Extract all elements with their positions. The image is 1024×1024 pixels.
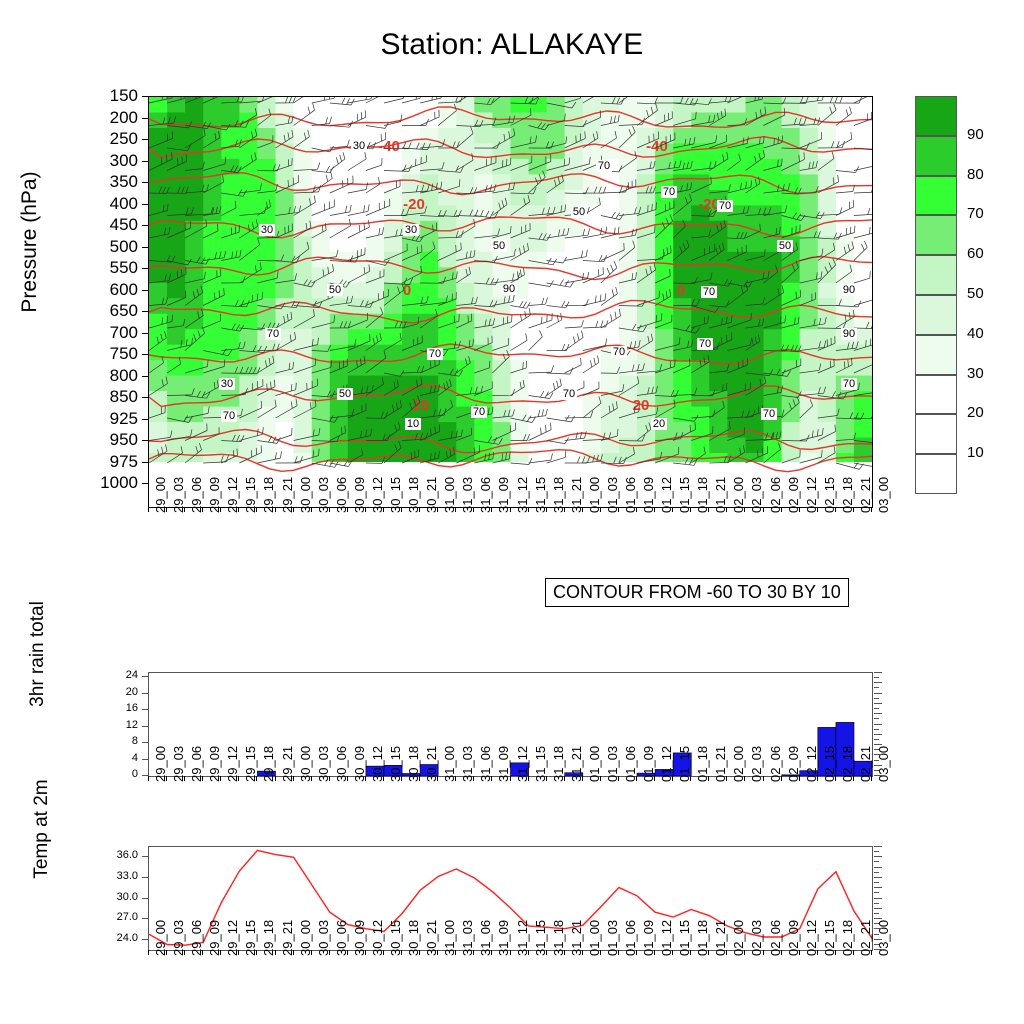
- x-tick-mark: [437, 776, 438, 781]
- x-tick-mark: [491, 776, 492, 781]
- colorbar-label: 90: [967, 126, 984, 143]
- x-tick-mark: [690, 950, 691, 955]
- svg-text:70: 70: [267, 328, 279, 340]
- x-tick-mark: [256, 507, 257, 512]
- x-tick-mark: [275, 950, 276, 955]
- main-y-tick: 450: [70, 215, 138, 235]
- x-tick-mark: [835, 776, 836, 781]
- minor-tick: [874, 934, 879, 935]
- minor-tick: [874, 851, 879, 852]
- x-tick-mark: [744, 950, 745, 955]
- svg-text:70: 70: [719, 200, 731, 212]
- minor-tick: [874, 749, 879, 750]
- x-tick-mark: [184, 950, 185, 955]
- x-tick-mark: [871, 507, 872, 512]
- x-tick-mark: [383, 950, 384, 955]
- x-tick-mark: [763, 776, 764, 781]
- x-tick-mark: [600, 776, 601, 781]
- x-tick-mark: [166, 950, 167, 955]
- x-tick-mark: [419, 950, 420, 955]
- contour-note: CONTOUR FROM -60 TO 30 BY 10: [545, 578, 849, 607]
- x-tick-mark: [618, 507, 619, 512]
- minor-tick: [874, 944, 879, 945]
- x-tick-mark: [817, 507, 818, 512]
- rain-y-tick: 12: [108, 719, 138, 731]
- x-tick-mark: [708, 507, 709, 512]
- minor-tick: [874, 739, 879, 740]
- minor-tick: [874, 898, 882, 899]
- x-tick-mark: [202, 776, 203, 781]
- svg-text:30: 30: [261, 224, 273, 236]
- svg-text:20: 20: [653, 418, 665, 430]
- main-y-tick: 800: [70, 366, 138, 386]
- minor-tick: [874, 698, 879, 699]
- minor-tick: [874, 856, 882, 857]
- x-tick-mark: [708, 950, 709, 955]
- minor-tick: [874, 913, 879, 914]
- minor-tick: [874, 882, 879, 883]
- x-tick-mark: [491, 507, 492, 512]
- x-tick-mark: [835, 950, 836, 955]
- svg-text:70: 70: [663, 186, 675, 198]
- minor-tick: [874, 687, 879, 688]
- minor-tick: [874, 861, 879, 862]
- x-tick-mark: [618, 776, 619, 781]
- x-tick-mark: [510, 776, 511, 781]
- svg-text:50: 50: [329, 284, 341, 296]
- colorbar-label: 20: [967, 404, 984, 421]
- x-tick-mark: [148, 950, 149, 955]
- x-tick-mark: [347, 507, 348, 512]
- x-tick-mark: [528, 776, 529, 781]
- svg-text:10: 10: [407, 418, 419, 430]
- main-y-tick: 925: [70, 409, 138, 429]
- x-tick-mark: [293, 776, 294, 781]
- main-y-tick: 200: [70, 108, 138, 128]
- minor-tick: [874, 765, 882, 766]
- minor-tick: [874, 677, 879, 678]
- svg-text:70: 70: [613, 346, 625, 358]
- x-tick-mark: [329, 950, 330, 955]
- minor-tick: [874, 872, 879, 873]
- x-tick-mark: [781, 950, 782, 955]
- x-tick-mark: [275, 507, 276, 512]
- x-tick-mark: [148, 507, 149, 512]
- x-tick-mark: [672, 776, 673, 781]
- minor-tick: [874, 928, 882, 929]
- x-tick-mark: [202, 507, 203, 512]
- x-tick-label: 03_00: [876, 477, 891, 513]
- svg-text:-20: -20: [403, 196, 425, 213]
- x-tick-mark: [726, 776, 727, 781]
- minor-tick: [874, 734, 882, 735]
- minor-tick: [874, 682, 882, 683]
- main-y-tick: 250: [70, 129, 138, 149]
- svg-text:50: 50: [339, 388, 351, 400]
- x-tick-mark: [365, 507, 366, 512]
- x-tick-mark: [401, 776, 402, 781]
- x-tick-mark: [654, 507, 655, 512]
- x-tick-mark: [293, 507, 294, 512]
- x-tick-mark: [184, 507, 185, 512]
- svg-text:70: 70: [703, 286, 715, 298]
- rain-y-tick: 16: [108, 702, 138, 714]
- x-tick-mark: [220, 950, 221, 955]
- x-tick-mark: [329, 776, 330, 781]
- x-tick-mark: [347, 776, 348, 781]
- x-tick-mark: [256, 776, 257, 781]
- x-tick-mark: [564, 950, 565, 955]
- x-tick-mark: [437, 507, 438, 512]
- x-tick-mark: [636, 950, 637, 955]
- colorbar-cell[interactable]: [915, 96, 957, 136]
- rain-ylabel: 3hr rain total: [27, 554, 49, 754]
- x-tick-mark: [871, 776, 872, 781]
- colorbar-label: 30: [967, 365, 984, 382]
- temp-y-tick: 33.0: [98, 870, 138, 882]
- x-tick-mark: [491, 950, 492, 955]
- rain-y-tick: 4: [108, 752, 138, 764]
- svg-text:0: 0: [677, 282, 685, 299]
- x-tick-mark: [582, 507, 583, 512]
- minor-tick: [874, 693, 882, 694]
- x-tick-mark: [365, 776, 366, 781]
- main-ylabel: Pressure (hPa): [18, 42, 42, 442]
- temp-ylabel: Temp at 2m: [31, 729, 53, 929]
- svg-text:70: 70: [563, 388, 575, 400]
- x-tick-mark: [383, 776, 384, 781]
- rain-y-tick: 8: [108, 735, 138, 747]
- x-tick-mark: [275, 776, 276, 781]
- colorbar-cell[interactable]: [915, 375, 957, 415]
- page-title: Station: ALLAKAYE: [0, 28, 1024, 62]
- colorbar-cell[interactable]: [915, 414, 957, 454]
- svg-text:70: 70: [473, 406, 485, 418]
- svg-text:30: 30: [221, 378, 233, 390]
- main-y-tick: 1000: [70, 473, 138, 493]
- humidity-colorbar[interactable]: 908070605040302010: [915, 96, 957, 494]
- x-tick-mark: [473, 776, 474, 781]
- temp-y-tick: 27.0: [98, 911, 138, 923]
- main-y-tick: 850: [70, 387, 138, 407]
- x-tick-mark: [256, 950, 257, 955]
- x-tick-mark: [347, 950, 348, 955]
- x-tick-mark: [672, 950, 673, 955]
- minor-tick: [874, 887, 882, 888]
- minor-tick: [874, 939, 882, 940]
- x-tick-mark: [564, 776, 565, 781]
- x-tick-mark: [311, 950, 312, 955]
- x-tick-mark: [238, 507, 239, 512]
- x-tick-mark: [419, 507, 420, 512]
- x-tick-mark: [853, 507, 854, 512]
- cross-section-plot[interactable]: -40-40-20-200020203030505050703070709050…: [148, 96, 873, 508]
- minor-tick: [874, 903, 879, 904]
- minor-tick: [874, 744, 882, 745]
- x-tick-mark: [238, 776, 239, 781]
- temp-y-tick: 36.0: [98, 849, 138, 861]
- x-tick-mark: [690, 507, 691, 512]
- x-tick-mark: [564, 507, 565, 512]
- x-tick-mark: [311, 776, 312, 781]
- x-tick-mark: [835, 507, 836, 512]
- x-tick-mark: [781, 507, 782, 512]
- main-y-tick: 400: [70, 194, 138, 214]
- main-y-tick: 950: [70, 430, 138, 450]
- x-tick-mark: [600, 507, 601, 512]
- temp-y-tick: 24.0: [98, 932, 138, 944]
- svg-text:50: 50: [573, 206, 585, 218]
- x-tick-mark: [166, 507, 167, 512]
- main-y-tick: 300: [70, 151, 138, 171]
- x-tick-mark: [528, 950, 529, 955]
- colorbar-cell[interactable]: [915, 295, 957, 335]
- minor-tick: [874, 729, 879, 730]
- x-tick-mark: [419, 776, 420, 781]
- minor-tick: [874, 846, 882, 847]
- minor-tick: [874, 718, 879, 719]
- x-tick-mark: [582, 950, 583, 955]
- x-tick-mark: [166, 776, 167, 781]
- minor-tick: [874, 918, 882, 919]
- x-tick-mark: [781, 776, 782, 781]
- svg-text:90: 90: [503, 283, 515, 295]
- minor-tick: [874, 713, 882, 714]
- x-tick-mark: [546, 776, 547, 781]
- colorbar-cell[interactable]: [915, 136, 957, 176]
- colorbar-cell[interactable]: [915, 215, 957, 255]
- minor-tick: [874, 775, 882, 776]
- minor-tick: [874, 867, 882, 868]
- x-tick-mark: [401, 950, 402, 955]
- x-tick-mark: [148, 776, 149, 781]
- x-tick-mark: [672, 507, 673, 512]
- rain-y-tick: 0: [108, 768, 138, 780]
- x-tick-mark: [871, 950, 872, 955]
- colorbar-label: 50: [967, 285, 984, 302]
- x-tick-mark: [763, 507, 764, 512]
- x-tick-mark: [654, 950, 655, 955]
- x-tick-mark: [455, 776, 456, 781]
- colorbar-label: 70: [967, 205, 984, 222]
- x-tick-mark: [817, 776, 818, 781]
- svg-text:30: 30: [353, 140, 365, 152]
- main-y-tick: 650: [70, 301, 138, 321]
- x-tick-mark: [799, 507, 800, 512]
- main-y-tick: 550: [70, 258, 138, 278]
- svg-text:90: 90: [843, 328, 855, 340]
- svg-text:20: 20: [633, 397, 650, 414]
- x-tick-mark: [763, 950, 764, 955]
- x-tick-mark: [510, 950, 511, 955]
- colorbar-cell[interactable]: [915, 454, 957, 494]
- main-y-tick: 700: [70, 323, 138, 343]
- cross-section-canvas: -40-40-20-200020203030505050703070709050…: [149, 97, 872, 507]
- x-tick-mark: [293, 950, 294, 955]
- x-tick-mark: [636, 776, 637, 781]
- rain-y-tick: 20: [108, 686, 138, 698]
- minor-tick: [874, 877, 882, 878]
- x-tick-mark: [473, 950, 474, 955]
- svg-text:70: 70: [843, 378, 855, 390]
- main-y-tick: 500: [70, 237, 138, 257]
- minor-tick: [874, 923, 879, 924]
- x-tick-mark: [510, 507, 511, 512]
- colorbar-cell[interactable]: [915, 255, 957, 295]
- x-tick-mark: [383, 507, 384, 512]
- x-tick-mark: [546, 507, 547, 512]
- main-y-tick: 750: [70, 344, 138, 364]
- svg-text:90: 90: [843, 284, 855, 296]
- x-tick-mark: [726, 507, 727, 512]
- x-tick-mark: [600, 950, 601, 955]
- rain-y-tick: 24: [108, 669, 138, 681]
- x-tick-mark: [744, 776, 745, 781]
- minor-tick: [874, 724, 882, 725]
- svg-text:70: 70: [598, 160, 610, 172]
- x-tick-mark: [311, 507, 312, 512]
- x-tick-mark: [473, 507, 474, 512]
- figure-canvas: Station: ALLAKAYE Pressure (hPa) 1502002…: [0, 0, 1024, 1024]
- minor-tick: [874, 703, 882, 704]
- svg-text:70: 70: [223, 410, 235, 422]
- x-tick-mark: [202, 950, 203, 955]
- svg-text:70: 70: [429, 348, 441, 360]
- x-tick-mark: [708, 776, 709, 781]
- x-tick-mark: [618, 950, 619, 955]
- colorbar-cell[interactable]: [915, 335, 957, 375]
- x-tick-mark: [690, 776, 691, 781]
- colorbar-cell[interactable]: [915, 176, 957, 216]
- x-tick-mark: [528, 507, 529, 512]
- svg-text:70: 70: [763, 408, 775, 420]
- x-tick-mark: [726, 950, 727, 955]
- x-tick-mark: [238, 950, 239, 955]
- svg-text:30: 30: [405, 224, 417, 236]
- main-y-tick: 600: [70, 280, 138, 300]
- svg-text:20: 20: [413, 397, 430, 414]
- minor-tick: [874, 760, 879, 761]
- x-tick-mark: [853, 776, 854, 781]
- x-tick-mark: [220, 776, 221, 781]
- colorbar-label: 40: [967, 325, 984, 342]
- x-tick-mark: [744, 507, 745, 512]
- x-tick-mark: [220, 507, 221, 512]
- main-y-tick: 350: [70, 172, 138, 192]
- colorbar-label: 60: [967, 245, 984, 262]
- minor-tick: [874, 708, 879, 709]
- colorbar-label: 80: [967, 166, 984, 183]
- main-y-tick: 975: [70, 452, 138, 472]
- x-tick-mark: [401, 507, 402, 512]
- minor-tick: [874, 908, 882, 909]
- minor-tick: [874, 672, 882, 673]
- x-tick-mark: [365, 950, 366, 955]
- x-tick-mark: [636, 507, 637, 512]
- x-tick-mark: [455, 507, 456, 512]
- x-tick-mark: [582, 776, 583, 781]
- minor-tick: [874, 892, 879, 893]
- colorbar-label: 10: [967, 444, 984, 461]
- x-tick-mark: [853, 950, 854, 955]
- svg-text:70: 70: [699, 338, 711, 350]
- minor-tick: [874, 949, 882, 950]
- x-tick-mark: [329, 507, 330, 512]
- svg-text:50: 50: [779, 240, 791, 252]
- x-tick-mark: [437, 950, 438, 955]
- main-y-tick: 150: [70, 86, 138, 106]
- svg-text:50: 50: [493, 240, 505, 252]
- x-tick-mark: [184, 776, 185, 781]
- x-tick-mark: [455, 950, 456, 955]
- minor-tick: [874, 754, 882, 755]
- x-tick-mark: [654, 776, 655, 781]
- x-tick-mark: [799, 776, 800, 781]
- minor-tick: [874, 770, 879, 771]
- x-tick-mark: [817, 950, 818, 955]
- temp-y-tick: 30.0: [98, 891, 138, 903]
- x-tick-mark: [546, 950, 547, 955]
- x-tick-mark: [799, 950, 800, 955]
